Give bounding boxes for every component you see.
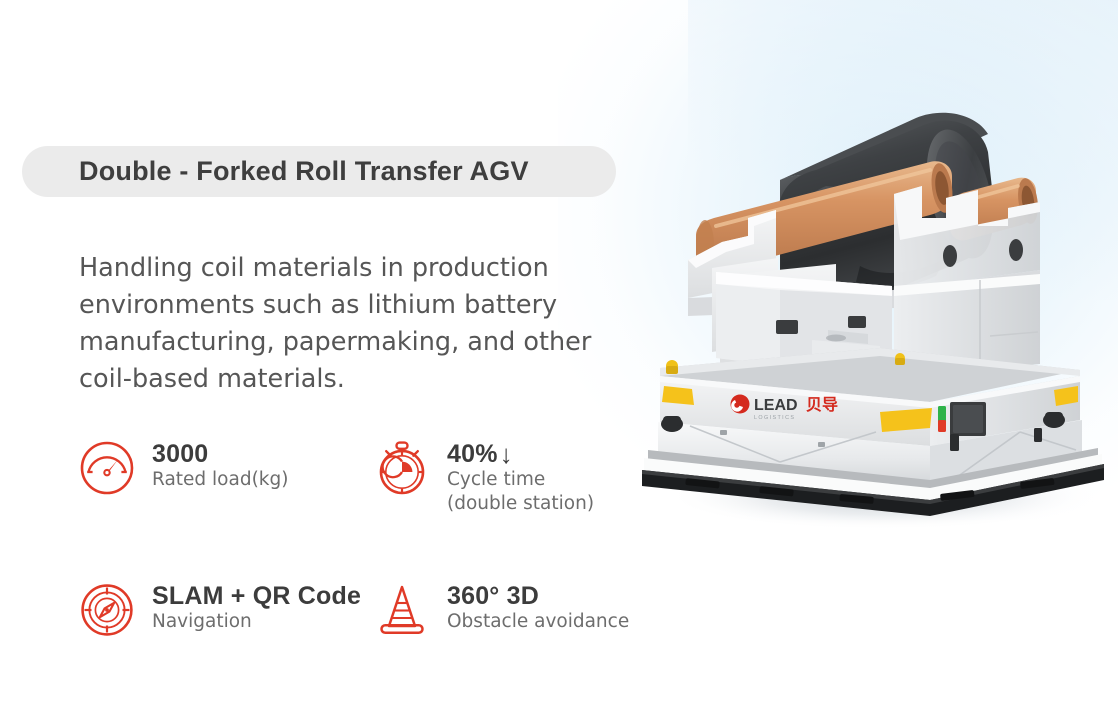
spec-value-number: 3000 xyxy=(152,440,208,468)
spec-text-obstacle-avoidance: 360° 3D Obstacle avoidance xyxy=(447,579,629,634)
traffic-cone-icon xyxy=(373,581,431,639)
down-arrow-icon: ↓ xyxy=(500,441,513,467)
page-title: Double - Forked Roll Transfer AGV xyxy=(79,156,529,187)
stopwatch-icon xyxy=(373,439,431,497)
svg-text:贝导: 贝导 xyxy=(806,395,838,414)
spec-value: 360° 3D xyxy=(447,582,629,610)
hazard-pad-left xyxy=(662,386,694,405)
spec-label: Navigation xyxy=(152,611,252,632)
spec-value-number: SLAM + QR Code xyxy=(152,582,361,610)
page-title-pill: Double - Forked Roll Transfer AGV xyxy=(22,146,616,197)
spec-item-obstacle-avoidance: 360° 3D Obstacle avoidance xyxy=(373,579,673,639)
spec-row-1: 3000 Rated load(kg) xyxy=(78,437,678,516)
spec-item-navigation: SLAM + QR Code Navigation xyxy=(78,579,373,639)
spec-label: Obstacle avoidance xyxy=(447,611,629,632)
control-panel xyxy=(938,402,986,436)
hazard-pad-right xyxy=(880,408,932,432)
spec-value-number: 360° 3D xyxy=(447,582,539,610)
spec-text-rated-load: 3000 Rated load(kg) xyxy=(152,437,288,492)
spec-value-number: 40% xyxy=(447,440,498,468)
spec-grid: 3000 Rated load(kg) xyxy=(78,437,678,639)
description-text: Handling coil materials in production en… xyxy=(79,250,639,398)
spec-row-2: SLAM + QR Code Navigation xyxy=(78,579,678,639)
spec-value: 3000 xyxy=(152,440,288,468)
slide-root: Double - Forked Roll Transfer AGV Handli… xyxy=(0,0,1118,719)
svg-text:LOGISTICS: LOGISTICS xyxy=(754,415,795,421)
compass-icon xyxy=(78,581,136,639)
product-image-agv: LEAD 贝导 LOGISTICS xyxy=(630,90,1118,550)
gauge-icon xyxy=(78,439,136,497)
svg-text:LEAD: LEAD xyxy=(754,397,798,414)
spec-label-secondary: (double station) xyxy=(447,493,594,514)
spec-value: SLAM + QR Code xyxy=(152,582,361,610)
spec-label: Cycle time xyxy=(447,469,545,490)
spec-label: Rated load(kg) xyxy=(152,469,288,490)
spec-item-cycle-time: 40% ↓ Cycle time (double station) xyxy=(373,437,673,516)
spec-item-rated-load: 3000 Rated load(kg) xyxy=(78,437,373,516)
spec-text-navigation: SLAM + QR Code Navigation xyxy=(152,579,361,634)
